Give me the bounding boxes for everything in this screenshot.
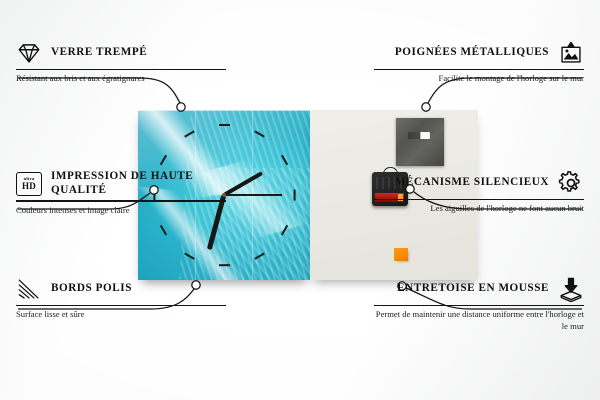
- ultra-hd-icon: ultra HD: [16, 172, 42, 196]
- feature-header: ENTRETOISE EN MOUSSE: [374, 276, 584, 302]
- feature-subtitle: Résistant aux bris et aux égratignures: [16, 73, 226, 85]
- feature-bords-polis: BORDS POLIS Surface lisse et sûre: [16, 276, 226, 321]
- feature-subtitle: Surface lisse et sûre: [16, 309, 226, 321]
- feature-subtitle: Couleurs intenses et image claire: [16, 205, 226, 217]
- connector-dot-verre: [177, 103, 185, 111]
- feature-title: VERRE TREMPÉ: [51, 46, 147, 60]
- feature-title: IMPRESSION DE HAUTE QUALITÉ: [51, 170, 226, 197]
- feature-subtitle: Les aiguilles de l'horloge ne font aucun…: [374, 203, 584, 215]
- connector-dot-poignees: [422, 103, 430, 111]
- feature-rule: [374, 69, 584, 70]
- feature-poignees-metalliques: POIGNÉES MÉTALLIQUES Facilite le montage…: [374, 40, 584, 85]
- feature-header: MÉCANISME SILENCIEUX: [374, 170, 584, 196]
- feature-impression-haute-qualite: ultra HD IMPRESSION DE HAUTE QUALITÉ Cou…: [16, 170, 226, 216]
- feature-subtitle: Permet de maintenir une distance uniform…: [374, 309, 584, 332]
- picture-frame-hanging-icon: [558, 40, 584, 66]
- feature-rule: [16, 200, 226, 201]
- feature-header: VERRE TREMPÉ: [16, 40, 226, 66]
- feature-rule: [16, 305, 226, 306]
- feature-header: ultra HD IMPRESSION DE HAUTE QUALITÉ: [16, 170, 226, 197]
- feature-title: POIGNÉES MÉTALLIQUES: [395, 46, 549, 60]
- feature-title: BORDS POLIS: [51, 282, 132, 296]
- feature-verre-trempe: VERRE TREMPÉ Résistant aux bris et aux é…: [16, 40, 226, 85]
- foam-spacer-arrow-icon: [558, 276, 584, 302]
- feature-entretoise-en-mousse: ENTRETOISE EN MOUSSE Permet de maintenir…: [374, 276, 584, 332]
- feature-title: ENTRETOISE EN MOUSSE: [397, 282, 549, 296]
- gear-icon: [558, 170, 584, 196]
- polished-edge-icon: [16, 276, 42, 302]
- infographic-canvas: VERRE TREMPÉ Résistant aux bris et aux é…: [0, 0, 600, 400]
- feature-mecanisme-silencieux: MÉCANISME SILENCIEUX Les aiguilles de l'…: [374, 170, 584, 215]
- feature-rule: [374, 305, 584, 306]
- diamond-icon: [16, 40, 42, 66]
- feature-header: BORDS POLIS: [16, 276, 226, 302]
- feature-rule: [374, 199, 584, 200]
- feature-header: POIGNÉES MÉTALLIQUES: [374, 40, 584, 66]
- feature-title: MÉCANISME SILENCIEUX: [395, 176, 549, 190]
- ultra-hd-icon-big-text: HD: [22, 182, 36, 191]
- feature-subtitle: Facilite le montage de l'horloge sur le …: [374, 73, 584, 85]
- feature-rule: [16, 69, 226, 70]
